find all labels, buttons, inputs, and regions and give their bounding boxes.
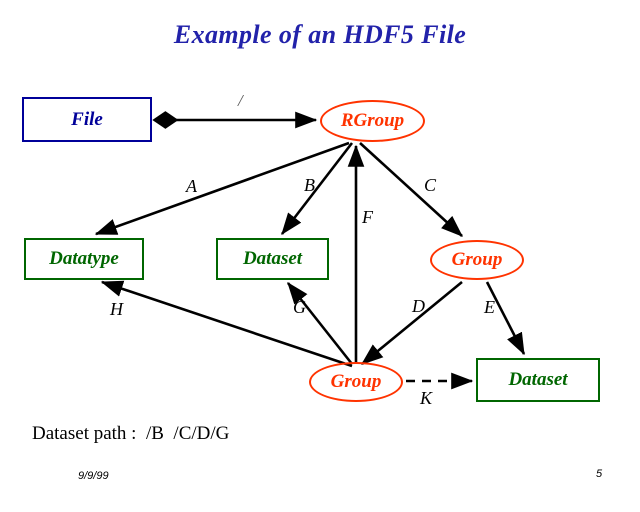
node-group-right[interactable]: Group	[430, 240, 524, 280]
edge-label-a: A	[186, 177, 197, 195]
edge-label-b: B	[304, 176, 315, 194]
edge-label-h: H	[110, 300, 123, 318]
edge-label-f: F	[362, 208, 373, 226]
edge-h	[102, 282, 352, 366]
node-dataset-middle[interactable]: Dataset	[216, 238, 329, 280]
footer-date: 9/9/99	[78, 470, 109, 482]
node-group-bottom[interactable]: Group	[309, 362, 403, 402]
edge-b	[282, 143, 352, 234]
slide-canvas: Example of an HDF5 File	[0, 0, 640, 512]
node-datatype[interactable]: Datatype	[24, 238, 144, 280]
edge-label-k: K	[420, 389, 432, 407]
footer-page-number: 5	[596, 468, 602, 480]
node-rgroup[interactable]: RGroup	[320, 100, 425, 142]
edge-d	[362, 282, 462, 364]
edge-c	[360, 143, 462, 236]
edge-label-c: C	[424, 176, 436, 194]
node-file[interactable]: File	[22, 97, 152, 142]
edge-e	[487, 282, 524, 354]
edge-label-e: E	[484, 298, 495, 316]
edge-label-g: G	[293, 298, 306, 316]
edge-g	[288, 283, 352, 364]
edge-label-root: /	[238, 92, 243, 109]
edge-label-d: D	[412, 297, 425, 315]
node-dataset-bottom[interactable]: Dataset	[476, 358, 600, 402]
dataset-path-caption: Dataset path : /B /C/D/G	[32, 423, 229, 445]
